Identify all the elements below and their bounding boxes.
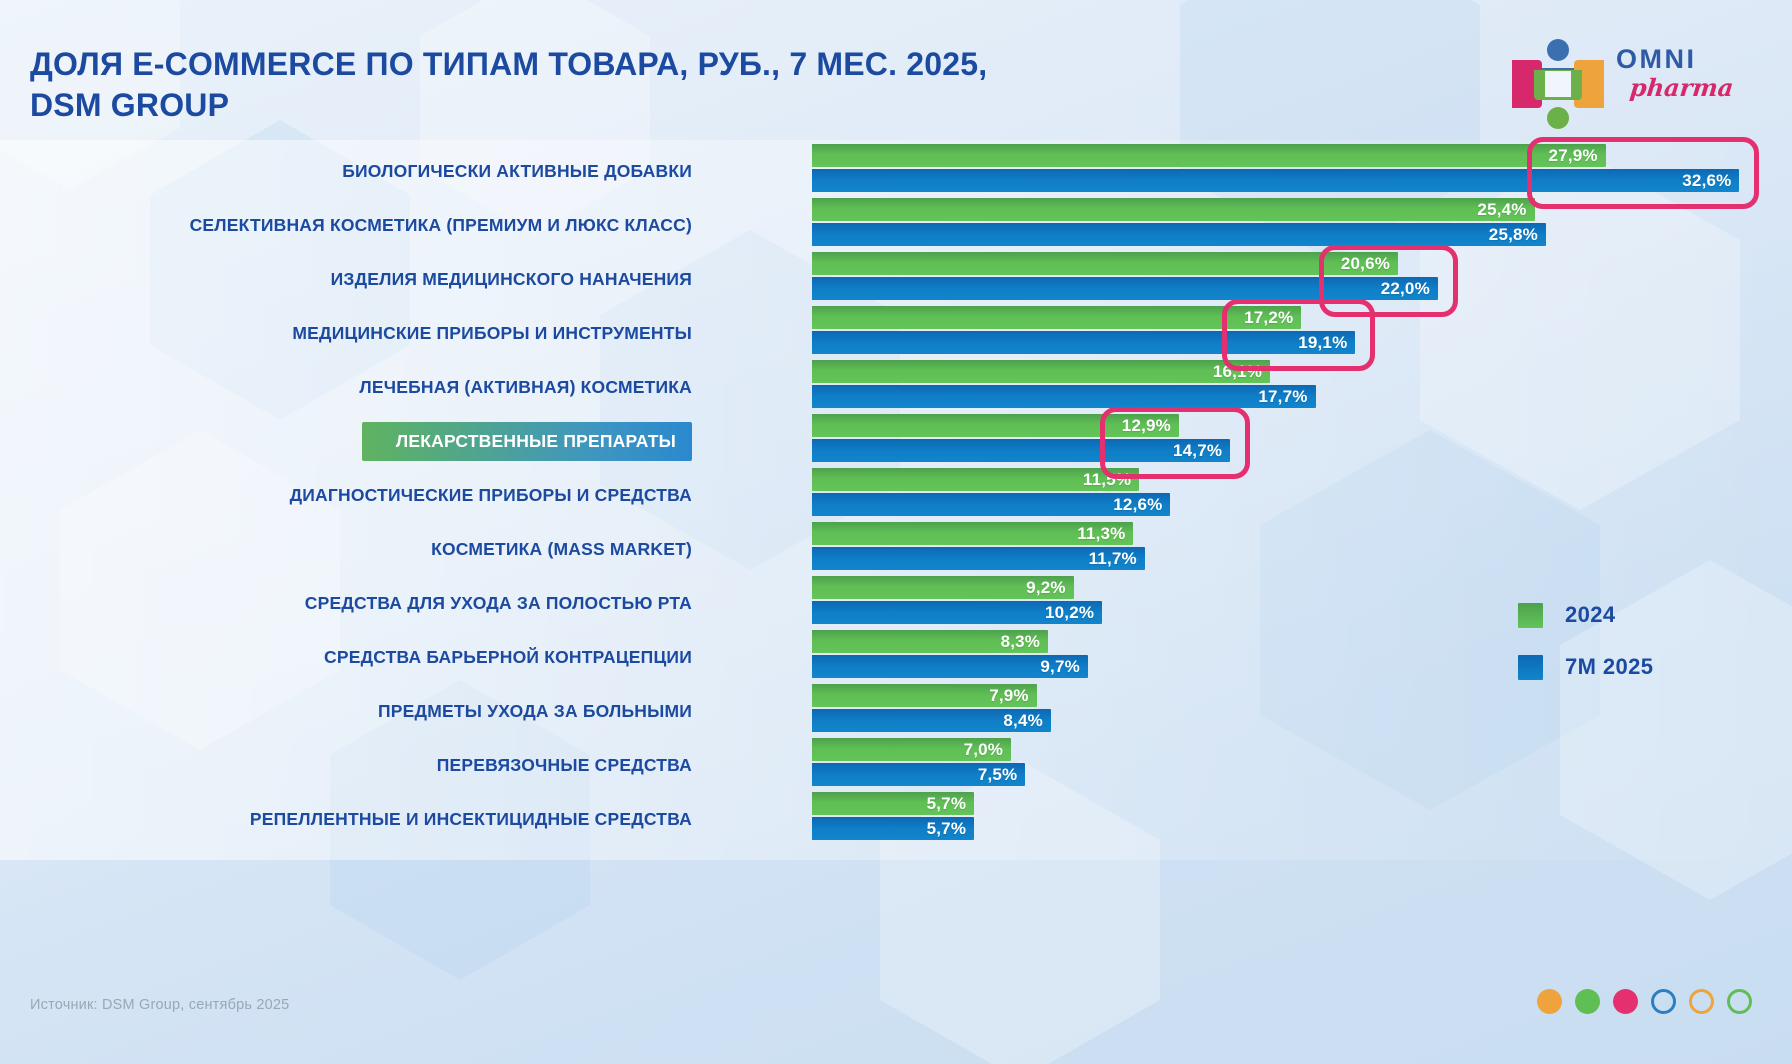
chart-row: ПЕРЕВЯЗОЧНЫЕ СРЕДСТВА7,0%7,5% <box>0 738 1792 792</box>
logo-pharma-text: pharma <box>1629 76 1735 100</box>
bar-value-label: 25,4% <box>1477 200 1534 220</box>
bar-group: 25,4%25,8% <box>812 198 1546 252</box>
chart-row: СЕЛЕКТИВНАЯ КОСМЕТИКА (ПРЕМИУМ И ЛЮКС КЛ… <box>0 198 1792 252</box>
bar-7m-2025[interactable]: 17,7% <box>812 385 1316 408</box>
category-label-text: ИЗДЕЛИЯ МЕДИЦИНСКОГО НАНАЧЕНИЯ <box>331 262 692 297</box>
dot-pink-filled[interactable] <box>1613 989 1638 1014</box>
bar-2024[interactable]: 27,9% <box>812 144 1606 167</box>
category-label-text: БИОЛОГИЧЕСКИ АКТИВНЫЕ ДОБАВКИ <box>342 154 692 189</box>
bar-value-label: 7,0% <box>964 740 1012 760</box>
bar-value-label: 19,1% <box>1298 333 1355 353</box>
category-label-text: ПЕРЕВЯЗОЧНЫЕ СРЕДСТВА <box>437 748 692 783</box>
category-label: БИОЛОГИЧЕСКИ АКТИВНЫЕ ДОБАВКИ <box>0 144 692 198</box>
bar-value-label: 11,5% <box>1083 470 1139 490</box>
category-label-text: ПРЕДМЕТЫ УХОДА ЗА БОЛЬНЫМИ <box>378 694 692 729</box>
category-label: МЕДИЦИНСКИЕ ПРИБОРЫ И ИНСТРУМЕНТЫ <box>0 306 692 360</box>
bar-group: 8,3%9,7% <box>812 630 1088 684</box>
dot-orange-filled[interactable] <box>1537 989 1562 1014</box>
bar-7m-2025[interactable]: 9,7% <box>812 655 1088 678</box>
category-label: ИЗДЕЛИЯ МЕДИЦИНСКОГО НАНАЧЕНИЯ <box>0 252 692 306</box>
bar-7m-2025[interactable]: 5,7% <box>812 817 974 840</box>
bar-group: 11,3%11,7% <box>812 522 1145 576</box>
chart-legend: 2024 7M 2025 <box>1518 602 1653 706</box>
chart-row: ЛЕЧЕБНАЯ (АКТИВНАЯ) КОСМЕТИКА16,1%17,7% <box>0 360 1792 414</box>
category-label: РЕПЕЛЛЕНТНЫЕ И ИНСЕКТИЦИДНЫЕ СРЕДСТВА <box>0 792 692 846</box>
bar-2024[interactable]: 7,0% <box>812 738 1011 761</box>
bar-2024[interactable]: 12,9% <box>812 414 1179 437</box>
bar-7m-2025[interactable]: 11,7% <box>812 547 1145 570</box>
category-label: ПЕРЕВЯЗОЧНЫЕ СРЕДСТВА <box>0 738 692 792</box>
bar-7m-2025[interactable]: 22,0% <box>812 277 1438 300</box>
legend-swatch-7m-2025 <box>1518 655 1543 680</box>
bar-group: 20,6%22,0% <box>812 252 1438 306</box>
category-label-text: КОСМЕТИКА (MASS MARKET) <box>431 532 692 567</box>
bar-group: 9,2%10,2% <box>812 576 1102 630</box>
bar-value-label: 9,2% <box>1026 578 1074 598</box>
omni-people-circle-icon <box>1508 34 1608 134</box>
bar-value-label: 5,7% <box>927 819 975 839</box>
bar-7m-2025[interactable]: 7,5% <box>812 763 1025 786</box>
title-line-1: ДОЛЯ E-COMMERCE ПО ТИПАМ ТОВАРА, РУБ., 7… <box>30 46 987 82</box>
bar-group: 7,9%8,4% <box>812 684 1051 738</box>
category-label: ПРЕДМЕТЫ УХОДА ЗА БОЛЬНЫМИ <box>0 684 692 738</box>
bar-group: 7,0%7,5% <box>812 738 1025 792</box>
bar-value-label: 14,7% <box>1173 441 1230 461</box>
dot-blue-outline[interactable] <box>1651 989 1676 1014</box>
slide-pagination-dots <box>1537 989 1752 1014</box>
bar-value-label: 5,7% <box>927 794 975 814</box>
chart-row: КОСМЕТИКА (MASS MARKET)11,3%11,7% <box>0 522 1792 576</box>
bar-7m-2025[interactable]: 12,6% <box>812 493 1170 516</box>
bar-value-label: 25,8% <box>1489 225 1546 245</box>
legend-label-2024: 2024 <box>1565 602 1616 628</box>
bar-2024[interactable]: 17,2% <box>812 306 1301 329</box>
chart-row: ДИАГНОСТИЧЕСКИЕ ПРИБОРЫ И СРЕДСТВА11,5%1… <box>0 468 1792 522</box>
bar-2024[interactable]: 7,9% <box>812 684 1037 707</box>
category-label-text: ДИАГНОСТИЧЕСКИЕ ПРИБОРЫ И СРЕДСТВА <box>290 478 692 513</box>
bar-group: 27,9%32,6% <box>812 144 1739 198</box>
category-label-text: ЛЕЧЕБНАЯ (АКТИВНАЯ) КОСМЕТИКА <box>359 370 692 405</box>
bar-value-label: 8,3% <box>1001 632 1049 652</box>
bar-value-label: 16,1% <box>1213 362 1270 382</box>
bar-group: 12,9%14,7% <box>812 414 1230 468</box>
bar-2024[interactable]: 11,5% <box>812 468 1139 491</box>
bar-value-label: 27,9% <box>1549 146 1606 166</box>
category-label-text: СЕЛЕКТИВНАЯ КОСМЕТИКА (ПРЕМИУМ И ЛЮКС КЛ… <box>190 208 692 243</box>
bar-2024[interactable]: 5,7% <box>812 792 974 815</box>
category-label: СЕЛЕКТИВНАЯ КОСМЕТИКА (ПРЕМИУМ И ЛЮКС КЛ… <box>0 198 692 252</box>
category-label-text: СРЕДСТВА БАРЬЕРНОЙ КОНТРАЦЕПЦИИ <box>324 640 692 675</box>
bar-value-label: 11,7% <box>1089 549 1145 569</box>
bar-group: 5,7%5,7% <box>812 792 974 846</box>
logo-wordmark: OMNI pharma <box>1616 46 1733 100</box>
dot-green-filled[interactable] <box>1575 989 1600 1014</box>
bar-2024[interactable]: 8,3% <box>812 630 1048 653</box>
category-label-text: РЕПЕЛЛЕНТНЫЕ И ИНСЕКТИЦИДНЫЕ СРЕДСТВА <box>250 802 692 837</box>
category-label: СРЕДСТВА БАРЬЕРНОЙ КОНТРАЦЕПЦИИ <box>0 630 692 684</box>
category-label-text: МЕДИЦИНСКИЕ ПРИБОРЫ И ИНСТРУМЕНТЫ <box>292 316 692 351</box>
legend-label-7m-2025: 7M 2025 <box>1565 654 1653 680</box>
page-title: ДОЛЯ E-COMMERCE ПО ТИПАМ ТОВАРА, РУБ., 7… <box>30 44 1230 126</box>
chart-row: МЕДИЦИНСКИЕ ПРИБОРЫ И ИНСТРУМЕНТЫ17,2%19… <box>0 306 1792 360</box>
bar-value-label: 17,7% <box>1258 387 1315 407</box>
bar-value-label: 32,6% <box>1682 171 1739 191</box>
chart-row: БИОЛОГИЧЕСКИ АКТИВНЫЕ ДОБАВКИ27,9%32,6% <box>0 144 1792 198</box>
bar-group: 11,5%12,6% <box>812 468 1170 522</box>
bar-7m-2025[interactable]: 10,2% <box>812 601 1102 624</box>
category-label-text: ЛЕКАРСТВЕННЫЕ ПРЕПАРАТЫ <box>362 422 692 461</box>
bar-2024[interactable]: 16,1% <box>812 360 1270 383</box>
category-label-text: СРЕДСТВА ДЛЯ УХОДА ЗА ПОЛОСТЬЮ РТА <box>305 586 692 621</box>
category-label: ЛЕКАРСТВЕННЫЕ ПРЕПАРАТЫ <box>0 414 692 468</box>
bar-value-label: 11,3% <box>1077 524 1133 544</box>
bar-7m-2025[interactable]: 8,4% <box>812 709 1051 732</box>
bar-value-label: 22,0% <box>1381 279 1438 299</box>
bar-value-label: 20,6% <box>1341 254 1398 274</box>
bar-value-label: 12,9% <box>1122 416 1179 436</box>
omni-pharma-logo: OMNI pharma <box>1508 30 1758 135</box>
bar-2024[interactable]: 20,6% <box>812 252 1398 275</box>
bar-2024[interactable]: 11,3% <box>812 522 1133 545</box>
bar-value-label: 8,4% <box>1003 711 1051 731</box>
category-label: КОСМЕТИКА (MASS MARKET) <box>0 522 692 576</box>
bar-value-label: 17,2% <box>1244 308 1301 328</box>
category-label: СРЕДСТВА ДЛЯ УХОДА ЗА ПОЛОСТЬЮ РТА <box>0 576 692 630</box>
chart-row: РЕПЕЛЛЕНТНЫЕ И ИНСЕКТИЦИДНЫЕ СРЕДСТВА5,7… <box>0 792 1792 846</box>
category-label: ЛЕЧЕБНАЯ (АКТИВНАЯ) КОСМЕТИКА <box>0 360 692 414</box>
legend-item-2024[interactable]: 2024 <box>1518 602 1653 628</box>
bar-7m-2025[interactable]: 32,6% <box>812 169 1739 192</box>
bar-value-label: 9,7% <box>1040 657 1088 677</box>
chart-row: ЛЕКАРСТВЕННЫЕ ПРЕПАРАТЫ12,9%14,7% <box>0 414 1792 468</box>
category-label: ДИАГНОСТИЧЕСКИЕ ПРИБОРЫ И СРЕДСТВА <box>0 468 692 522</box>
dot-orange-outline[interactable] <box>1689 989 1714 1014</box>
bar-2024[interactable]: 9,2% <box>812 576 1074 599</box>
bar-group: 16,1%17,7% <box>812 360 1316 414</box>
legend-item-7m-2025[interactable]: 7M 2025 <box>1518 654 1653 680</box>
legend-swatch-2024 <box>1518 603 1543 628</box>
bar-value-label: 12,6% <box>1113 495 1170 515</box>
bar-value-label: 10,2% <box>1045 603 1102 623</box>
chart-row: ИЗДЕЛИЯ МЕДИЦИНСКОГО НАНАЧЕНИЯ20,6%22,0% <box>0 252 1792 306</box>
bar-7m-2025[interactable]: 25,8% <box>812 223 1546 246</box>
bar-7m-2025[interactable]: 19,1% <box>812 331 1355 354</box>
bar-group: 17,2%19,1% <box>812 306 1355 360</box>
title-line-2: DSM GROUP <box>30 85 1230 126</box>
bar-7m-2025[interactable]: 14,7% <box>812 439 1230 462</box>
bar-value-label: 7,9% <box>989 686 1037 706</box>
bar-value-label: 7,5% <box>978 765 1026 785</box>
source-note: Источник: DSM Group, сентябрь 2025 <box>30 997 289 1013</box>
logo-omni-text: OMNI <box>1616 46 1733 73</box>
bar-2024[interactable]: 25,4% <box>812 198 1535 221</box>
dot-green-outline[interactable] <box>1727 989 1752 1014</box>
bar-chart: БИОЛОГИЧЕСКИ АКТИВНЫЕ ДОБАВКИ27,9%32,6%С… <box>0 140 1792 860</box>
